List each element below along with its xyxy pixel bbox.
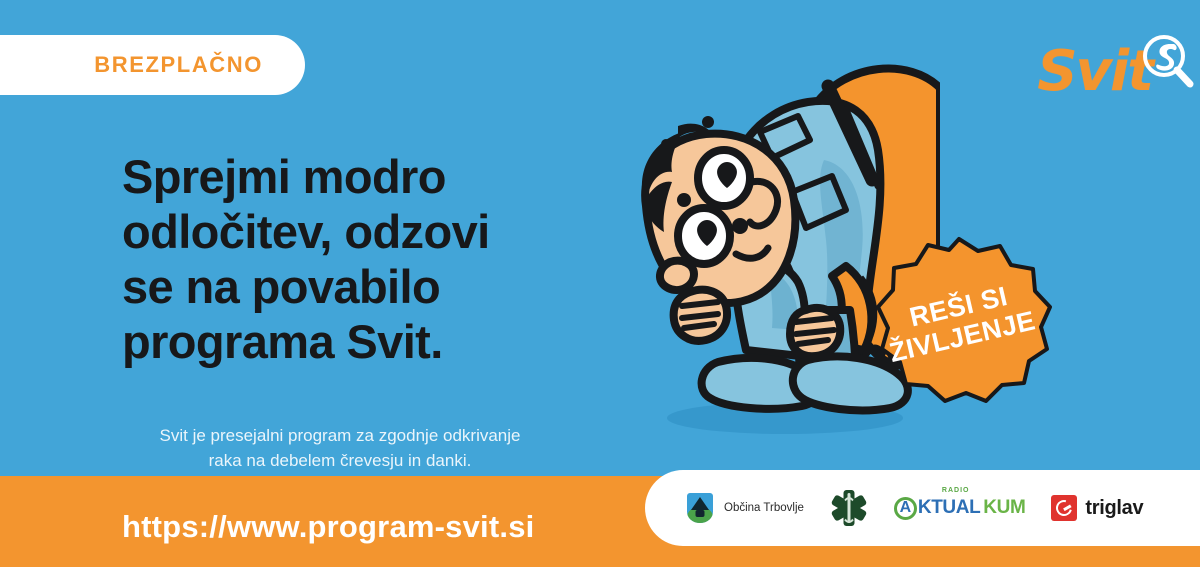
subtitle: Svit je presejalni program za zgodnje od… <box>80 424 600 473</box>
headline-line-2: odločitev, odzovi <box>122 205 642 260</box>
partner-radio-aktual-kum: A RADIO KTUAL KUM <box>894 497 1025 520</box>
partner-obcina-trbovlje-label: Občina Trbovlje <box>724 502 804 514</box>
aktual-label: KTUAL <box>918 497 980 519</box>
partner-emergency-medical <box>830 489 868 527</box>
town-crest-icon <box>687 493 713 523</box>
headline-line-4: programa Svit. <box>122 315 642 370</box>
free-tag-label: BREZPLAČNO <box>94 52 263 78</box>
headline-line-3: se na povabilo <box>122 260 642 315</box>
kum-label: KUM <box>983 497 1025 519</box>
free-tag-pill: BREZPLAČNO <box>0 35 305 95</box>
headline-line-1: Sprejmi modro <box>122 150 642 205</box>
svit-wordmark: Svit <box>1037 44 1152 100</box>
triglav-mark-icon <box>1051 495 1077 521</box>
star-of-life-icon <box>830 489 868 527</box>
subtitle-line-2: raka na debelem črevesju in danki. <box>80 449 600 474</box>
partner-triglav-label: triglav <box>1085 497 1143 520</box>
banner: REŠI SI ŽIVLJENJE BREZPLAČNO Sprejmi mod… <box>0 0 1200 567</box>
radio-logo-icon: A <box>894 497 917 520</box>
website-url[interactable]: https://www.program-svit.si <box>122 509 534 545</box>
svit-brand-logo[interactable]: Svit <box>1037 44 1152 100</box>
subtitle-line-1: Svit je presejalni program za zgodnje od… <box>80 424 600 449</box>
starburst-shape <box>866 236 1052 408</box>
magnifier-colon-icon <box>1140 34 1196 90</box>
headline: Sprejmi modro odločitev, odzovi se na po… <box>122 150 642 370</box>
partner-obcina-trbovlje: Občina Trbovlje <box>687 493 804 523</box>
radio-small-label: RADIO <box>942 487 970 494</box>
starburst-badge: REŠI SI ŽIVLJENJE <box>866 236 1052 408</box>
partner-logos-panel: Občina Trbovlje A RADIO KTUAL KUM t <box>645 470 1200 546</box>
partner-triglav: triglav <box>1051 495 1143 521</box>
